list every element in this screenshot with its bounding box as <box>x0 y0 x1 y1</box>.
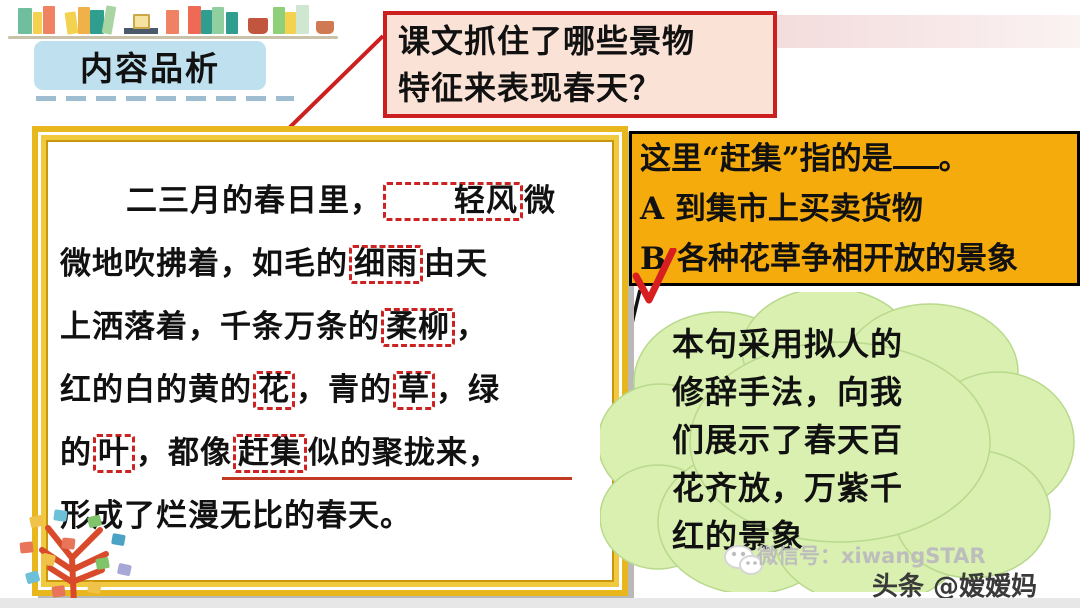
book-icon <box>285 12 296 34</box>
book-icon <box>78 7 90 34</box>
passage-line-4: 红的白的黄的花，青的草，绿 <box>60 359 500 422</box>
quiz-option-text: 到集市上买卖货物 <box>675 191 923 227</box>
question-line-1: 课文抓住了哪些景物 <box>398 18 772 65</box>
page-title: 内容品析 <box>34 41 266 90</box>
passage-line-5: 的叶，都像赶集似的聚拢来， <box>60 422 500 485</box>
passage-red-underline <box>222 477 572 480</box>
plant-pot-icon <box>316 21 334 34</box>
quiz-option-b[interactable]: B 各种花草争相开放的景象 <box>640 234 1078 284</box>
cloud-line-1: 本句采用拟人的 <box>672 320 972 368</box>
keyword-box-ye: 叶 <box>93 434 135 473</box>
text-run: 红的白的黄的 <box>60 372 252 408</box>
quiz-stem-prefix: 这里“赶集”指的是 <box>640 141 893 177</box>
book-icon <box>33 12 42 34</box>
keyword-box-qingfeng: 轻风 <box>383 182 523 221</box>
book-icon <box>18 8 32 34</box>
text-run: 似的聚拢来， <box>308 435 500 471</box>
text-run: 微 <box>524 183 556 219</box>
book-icon <box>65 11 79 34</box>
text-run: 由天 <box>424 246 488 282</box>
keyword-box-hua: 花 <box>253 371 295 410</box>
book-icon <box>226 12 238 34</box>
passage-line-3: 上洒落着，千条万条的柔柳， <box>60 296 488 359</box>
text-run: 微地吹拂着，如毛的 <box>60 246 348 282</box>
quiz-option-letter: A <box>640 191 664 227</box>
keyword-box-rouliu: 柔柳 <box>381 308 455 347</box>
text-run: ， <box>456 309 488 345</box>
question-callout-text: 课文抓住了哪些景物 特征来表现春天？ <box>390 18 772 113</box>
book-icon <box>166 10 179 34</box>
text-run: 二三月的春日里， <box>126 183 382 219</box>
cloud-line-4: 花齐放，万紫千 <box>672 464 972 512</box>
quiz-option-a[interactable]: A 到集市上买卖货物 <box>640 184 1078 234</box>
bottom-bar <box>0 598 1080 608</box>
cloud-line-2: 修辞手法，向我 <box>672 368 972 416</box>
quiz-stem-suffix: 。 <box>939 141 970 177</box>
plant-pot-icon <box>248 18 268 34</box>
quiz-option-letter: B <box>640 241 666 277</box>
quiz-blank <box>893 166 939 169</box>
passage-line-2: 微地吹拂着，如毛的细雨由天 <box>60 233 488 296</box>
cloud-line-3: 们展示了春天百 <box>672 416 972 464</box>
tree-decoration-icon <box>2 498 182 606</box>
text-run: 上洒落着，千条万条的 <box>60 309 380 345</box>
book-icon <box>201 10 212 34</box>
book-icon <box>296 5 309 34</box>
question-line-2: 特征来表现春天？ <box>398 65 772 112</box>
book-icon <box>43 6 55 34</box>
text-run: ，青的 <box>296 372 392 408</box>
text-run: 的 <box>60 435 92 471</box>
keyword-box-xiyu: 细雨 <box>349 245 423 284</box>
book-icon <box>273 7 285 34</box>
shelf-board <box>8 36 338 39</box>
book-icon <box>133 14 150 29</box>
quiz-content: 这里“赶集”指的是。 A 到集市上买卖货物 B 各种花草争相开放的景象 <box>634 134 1078 284</box>
title-underline-dashes <box>36 96 294 101</box>
quiz-option-text: 各种花草争相开放的景象 <box>677 241 1018 277</box>
keyword-box-ganji: 赶集 <box>233 434 307 473</box>
quiz-stem: 这里“赶集”指的是。 <box>640 134 1078 184</box>
slide-canvas: 内容品析 二三月的春日里，轻风微 微地吹拂着，如毛的细雨由天 上洒落着，千条万条… <box>0 0 1080 608</box>
text-run: ，绿 <box>436 372 500 408</box>
cloud-note-text: 本句采用拟人的 修辞手法，向我 们展示了春天百 花齐放，万紫千 红的景象 <box>672 320 972 560</box>
book-icon <box>188 6 201 34</box>
callout-pink-band <box>777 15 1080 48</box>
text-run: ，都像 <box>136 435 232 471</box>
book-icon <box>212 7 224 34</box>
passage-line-1: 二三月的春日里，轻风微 <box>60 170 556 233</box>
keyword-box-cao: 草 <box>393 371 435 410</box>
bookshelf-decoration <box>0 0 340 42</box>
